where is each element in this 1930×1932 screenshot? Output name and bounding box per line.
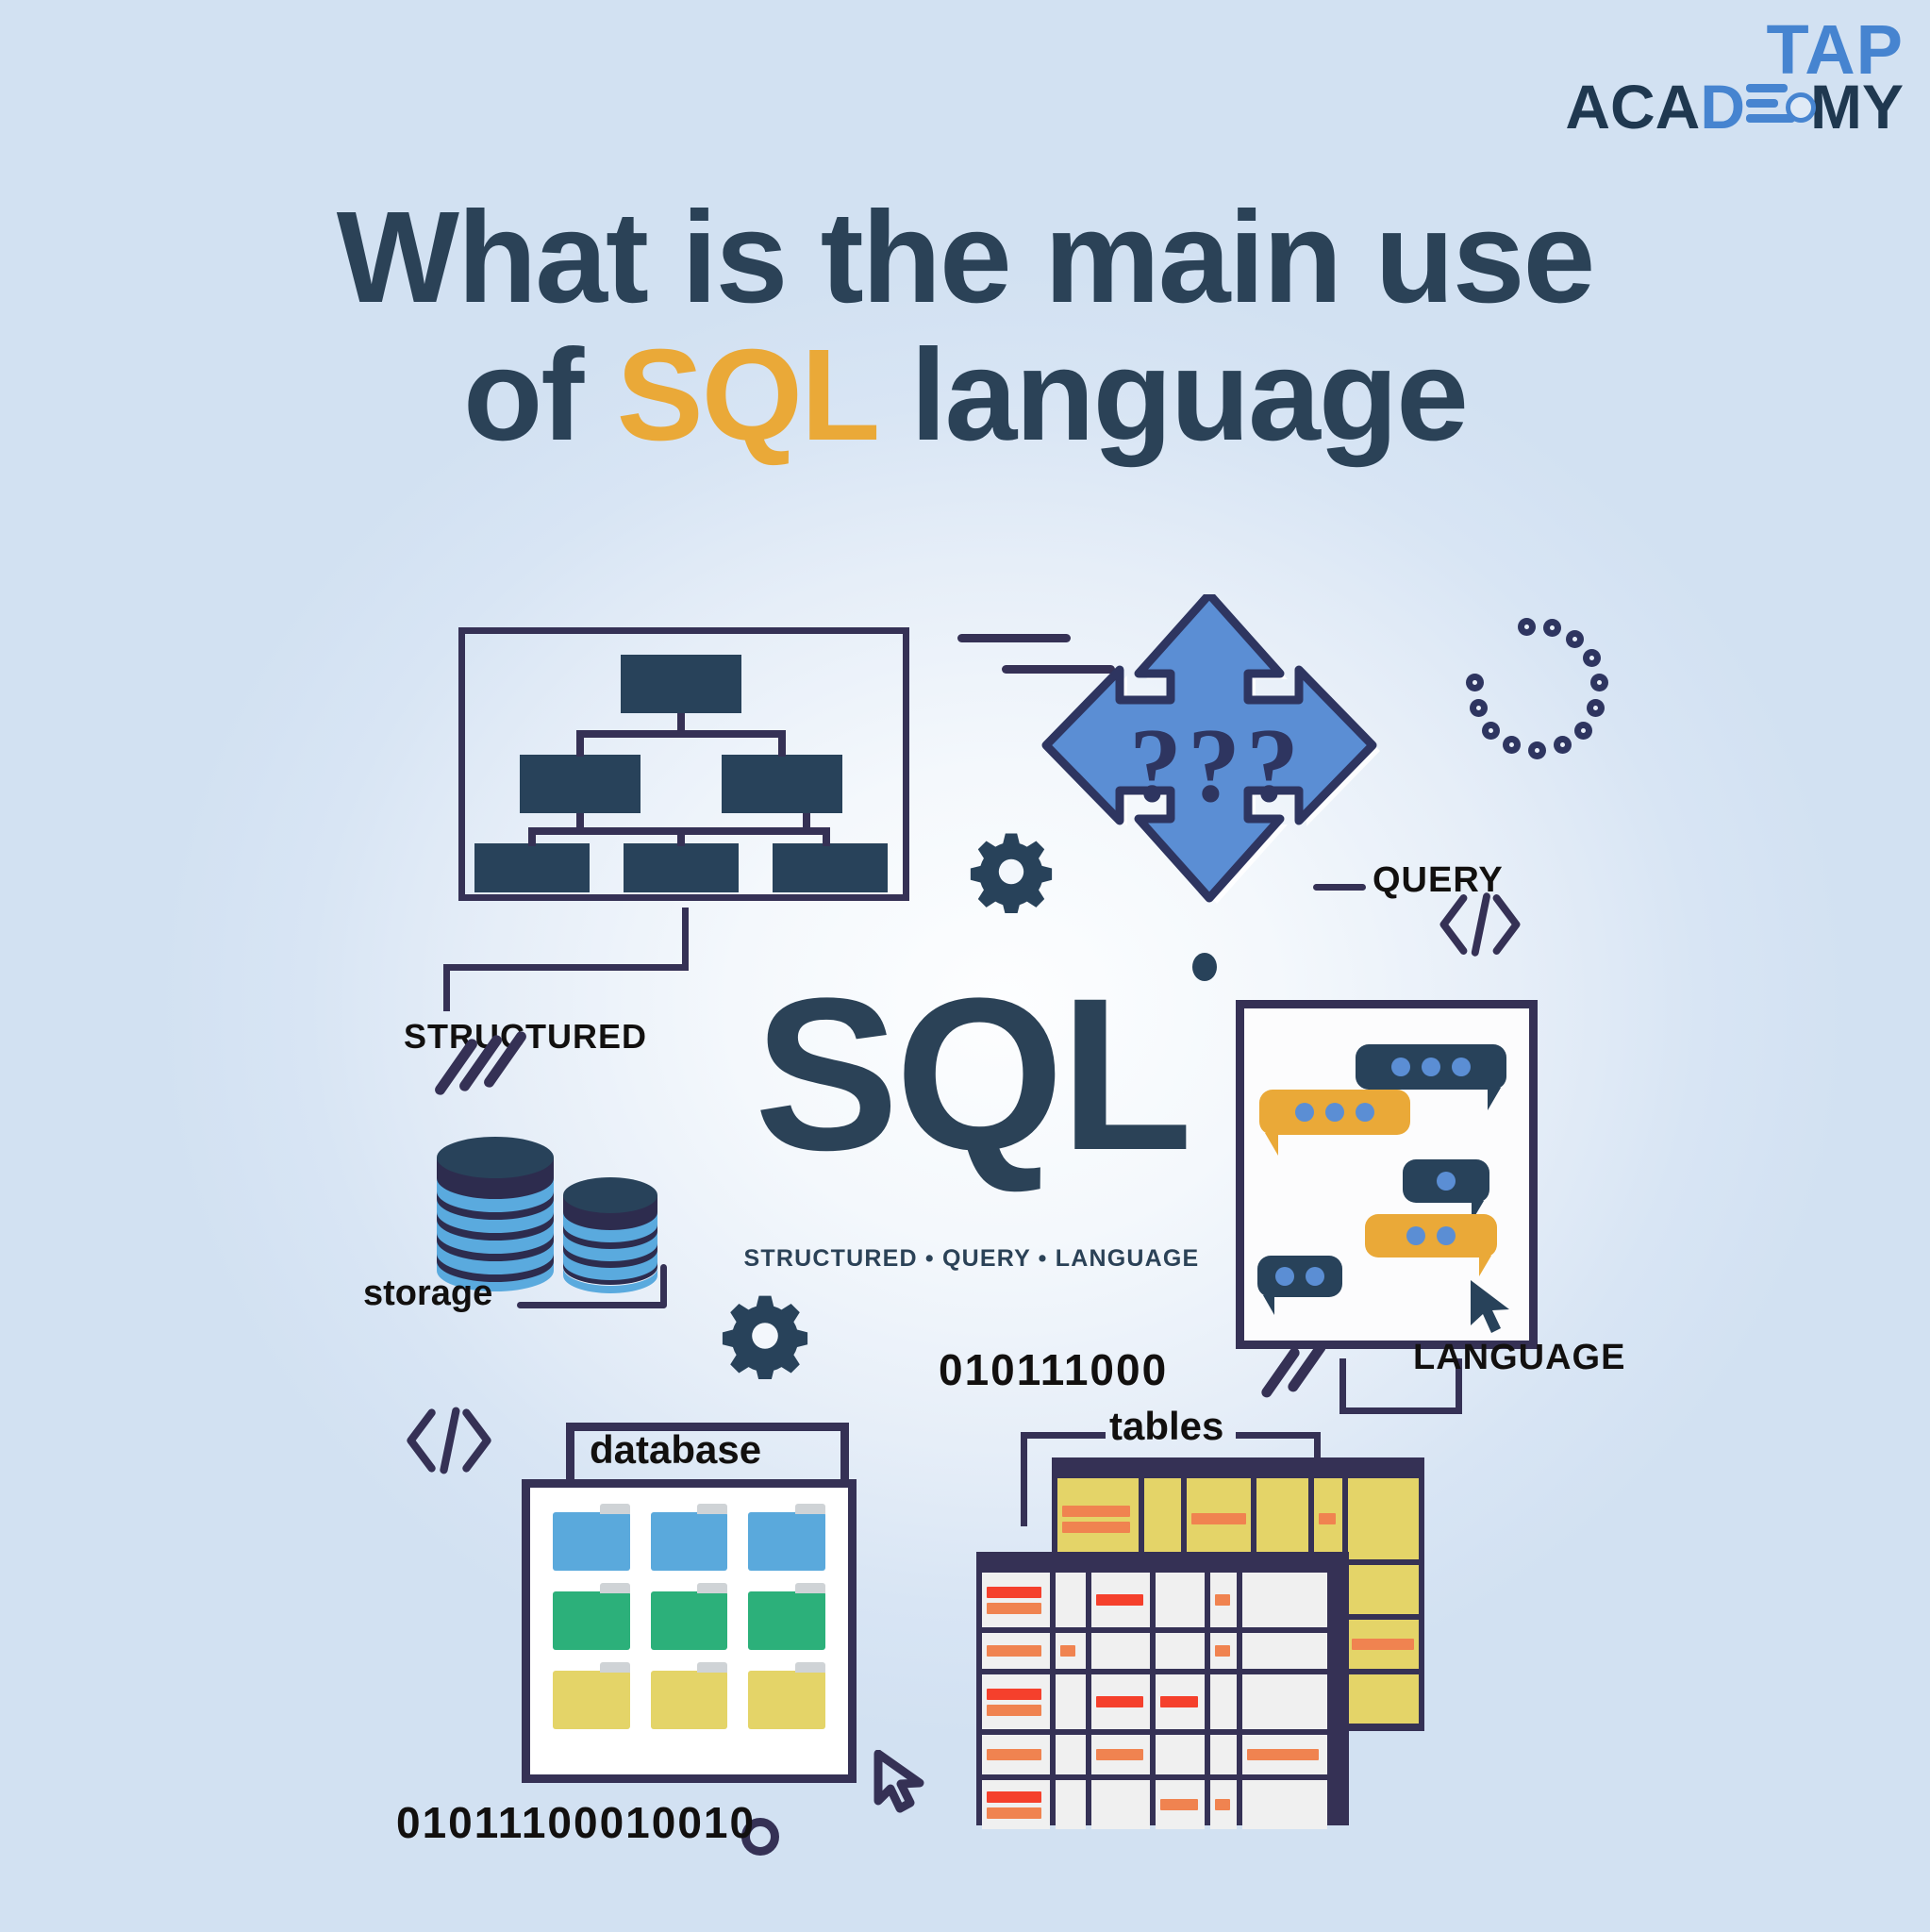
table-row [982,1633,1343,1669]
title-line-1: What is the main use [0,189,1930,326]
structured-hierarchy-box [458,627,909,901]
table-cell [1242,1573,1327,1627]
language-connector-horizontal [1339,1407,1462,1414]
code-brackets-glyph [406,1406,492,1475]
table-cell-bar [1215,1645,1230,1657]
dotted-circle-dot [1587,699,1605,717]
chat-dot [1452,1058,1471,1076]
title-line2-pre: of [463,323,617,468]
cursor-arrow-outline-icon [873,1750,927,1816]
table-cell [1348,1478,1419,1559]
chat-bubble [1257,1256,1342,1297]
question-marks-text: ??? [995,706,1439,827]
table-cell-bar [1160,1696,1198,1707]
dotted-circle-dot [1543,619,1561,637]
storage-connector-vertical [660,1264,667,1308]
chat-dot [1391,1058,1410,1076]
language-label: LANGUAGE [1413,1338,1625,1378]
table-cell [1156,1674,1205,1729]
folder-tab [795,1662,825,1673]
brand-logo: TAP ACA D MY [1564,17,1904,136]
chat-dot [1356,1103,1374,1122]
dotted-circle-dot [1518,618,1536,636]
table-cell [1091,1735,1150,1774]
query-connector-line [1313,884,1366,891]
chat-dot [1295,1103,1314,1122]
table-row [982,1780,1343,1829]
dotted-circle-dot [1470,699,1488,717]
table-cell [1156,1633,1205,1669]
tables-connector-right-horizontal [1236,1432,1321,1439]
logo-academy-row: ACA D MY [1564,77,1904,136]
dot-icon [1192,953,1217,981]
gear-glyph [722,1292,808,1379]
title-line2-post: language [876,323,1467,468]
table-cell [982,1780,1050,1829]
folder-icon [651,1671,728,1729]
table-cell [1242,1674,1327,1729]
title-line-2: of SQL language [0,326,1930,464]
page-title: What is the main use of SQL language [0,189,1930,465]
table-cell [1156,1573,1205,1627]
title-sql-highlight: SQL [617,323,876,468]
dotted-circle-dot [1554,736,1572,754]
logo-my-text: MY [1810,77,1904,136]
code-brackets-icon [406,1406,492,1475]
gear-icon [970,830,1053,913]
dotted-circle-dot [1583,649,1601,667]
dotted-circle-dot [1566,630,1584,648]
table-cell-bar [1096,1696,1143,1707]
table-cell [1348,1565,1419,1614]
folder-icon [553,1512,630,1571]
table-cell [1348,1674,1419,1724]
table-cell [1144,1478,1182,1559]
table-cell-bar [987,1689,1041,1700]
structured-connector-horizontal [443,964,689,971]
language-connector-left [1339,1358,1346,1413]
table-cell [1156,1780,1205,1829]
table-cell [982,1735,1050,1774]
folder-icon [748,1671,825,1729]
folder-icon [651,1591,728,1650]
table-row [1057,1478,1419,1559]
table-cell-bar [1352,1639,1414,1650]
table-cell-bar [987,1807,1041,1819]
code-brackets-glyph [1439,891,1522,958]
table-cell [1242,1735,1327,1774]
logo-aca-text: ACA [1565,77,1700,136]
chat-dot [1325,1103,1344,1122]
hierarchy-diagram-icon [465,634,901,892]
language-chat-panel [1236,1000,1538,1349]
table-white [976,1552,1349,1825]
table-cell-bar [987,1587,1041,1598]
folder-tab [600,1662,630,1673]
table-cell-bar [1319,1513,1336,1524]
table-cell [1242,1780,1327,1829]
tables-connector-left-horizontal [1021,1432,1106,1439]
logo-d-text: D [1700,77,1745,136]
gear-glyph [970,830,1053,913]
folder-icon [748,1591,825,1650]
code-brackets-icon [1439,891,1522,958]
database-folder-panel [522,1479,857,1783]
table-cell [1347,1620,1419,1669]
table-cell [1091,1573,1150,1627]
tables-label: tables [1109,1404,1223,1449]
table-row [982,1573,1343,1627]
cursor-arrow-icon [1467,1278,1516,1337]
dotted-circle-dot [1528,741,1546,759]
table-cell [1056,1674,1086,1729]
folder-icon [553,1671,630,1729]
chat-bubble-tail [1265,1133,1278,1156]
table-cell [1057,1478,1139,1559]
dotted-circle-dot [1574,722,1592,740]
storage-label: storage [363,1274,492,1314]
table-cell [1056,1735,1086,1774]
table-cell-bar [1062,1522,1130,1533]
sql-wordmark: SQL [726,981,1217,1168]
table-cell [982,1674,1050,1729]
table-cell-bar [987,1791,1041,1803]
table-cell [1256,1478,1307,1559]
chat-bubble-tail [1479,1256,1491,1276]
table-cell [1210,1633,1237,1669]
folder-icon [651,1512,728,1571]
table-cell [1056,1573,1086,1627]
chat-bubble [1365,1214,1497,1257]
storage-connector-horizontal [517,1302,666,1308]
folder-tab [795,1504,825,1514]
table-cell-bar [1096,1749,1143,1760]
dotted-circle-dot [1466,674,1484,691]
table-cell-bar [1062,1506,1130,1517]
table-cell [1210,1573,1237,1627]
folder-grid [530,1488,848,1754]
table-cell [1056,1780,1086,1829]
chat-dot [1306,1267,1324,1286]
chat-dot [1406,1226,1425,1245]
binary-text-left: 01011100010010 [396,1797,756,1848]
table-cell [1242,1633,1327,1669]
chat-bubble-tail [1488,1088,1501,1110]
table-row [982,1735,1343,1774]
gear-icon [722,1292,808,1379]
table-cell [1091,1633,1150,1669]
folder-icon [553,1591,630,1650]
table-cell [1156,1735,1205,1774]
chat-dot [1422,1058,1440,1076]
table-cell [982,1573,1050,1627]
chat-dot [1437,1226,1456,1245]
table-cell-bar [1160,1799,1198,1810]
tables-connector-left-vertical [1021,1432,1027,1526]
chat-bubble-tail [1263,1295,1274,1315]
table-cell [982,1633,1050,1669]
table-cell-bar [1247,1749,1319,1760]
folder-tab [697,1662,727,1673]
table-row [982,1674,1343,1729]
chat-bubble [1356,1044,1506,1090]
sql-subtitle: STRUCTURED • QUERY • LANGUAGE [717,1245,1226,1273]
table-cell [1314,1478,1342,1559]
dotted-circle-dot [1482,722,1500,740]
folder-tab [600,1504,630,1514]
database-label: database [590,1427,761,1473]
folder-icon [748,1512,825,1571]
table-cell-bar [987,1749,1041,1760]
table-cell [1210,1780,1237,1829]
table-cell [1056,1633,1086,1669]
table-cell-bar [987,1603,1041,1614]
structured-connector-vertical-bottom [443,964,450,1011]
table-cell [1210,1674,1237,1729]
dotted-circle-icon [1453,604,1622,774]
table-cell [1210,1735,1237,1774]
table-cell-bar [987,1645,1041,1657]
table-cell-bar [1215,1799,1230,1810]
table-cell [1091,1674,1150,1729]
structured-connector-vertical-top [682,908,689,970]
table-cell-bar [1215,1594,1230,1606]
table-cell-bar [1096,1594,1143,1606]
binary-text-right: 010111000 [939,1344,1168,1395]
chat-bubble [1259,1090,1410,1135]
chat-bubble [1403,1159,1489,1203]
folder-tab [697,1504,727,1514]
infographic-canvas: TAP ACA D MY What is the main use of SQL… [0,0,1930,1932]
chat-dot [1437,1172,1456,1191]
diagonal-slashes-icon [1275,1338,1360,1413]
logo-ring-icon [1786,92,1816,123]
table-cell [1187,1478,1251,1559]
table-cell-bar [1060,1645,1075,1657]
table-cell-bar [987,1705,1041,1716]
chat-dot [1275,1267,1294,1286]
diagonal-slashes-icon [451,1030,536,1106]
folder-tab [697,1583,727,1593]
dotted-circle-dot [1590,674,1608,691]
table-cell-bar [1191,1513,1246,1524]
folder-tab [795,1583,825,1593]
dotted-circle-dot [1503,736,1521,754]
table-cell [1091,1780,1150,1829]
folder-tab [600,1583,630,1593]
